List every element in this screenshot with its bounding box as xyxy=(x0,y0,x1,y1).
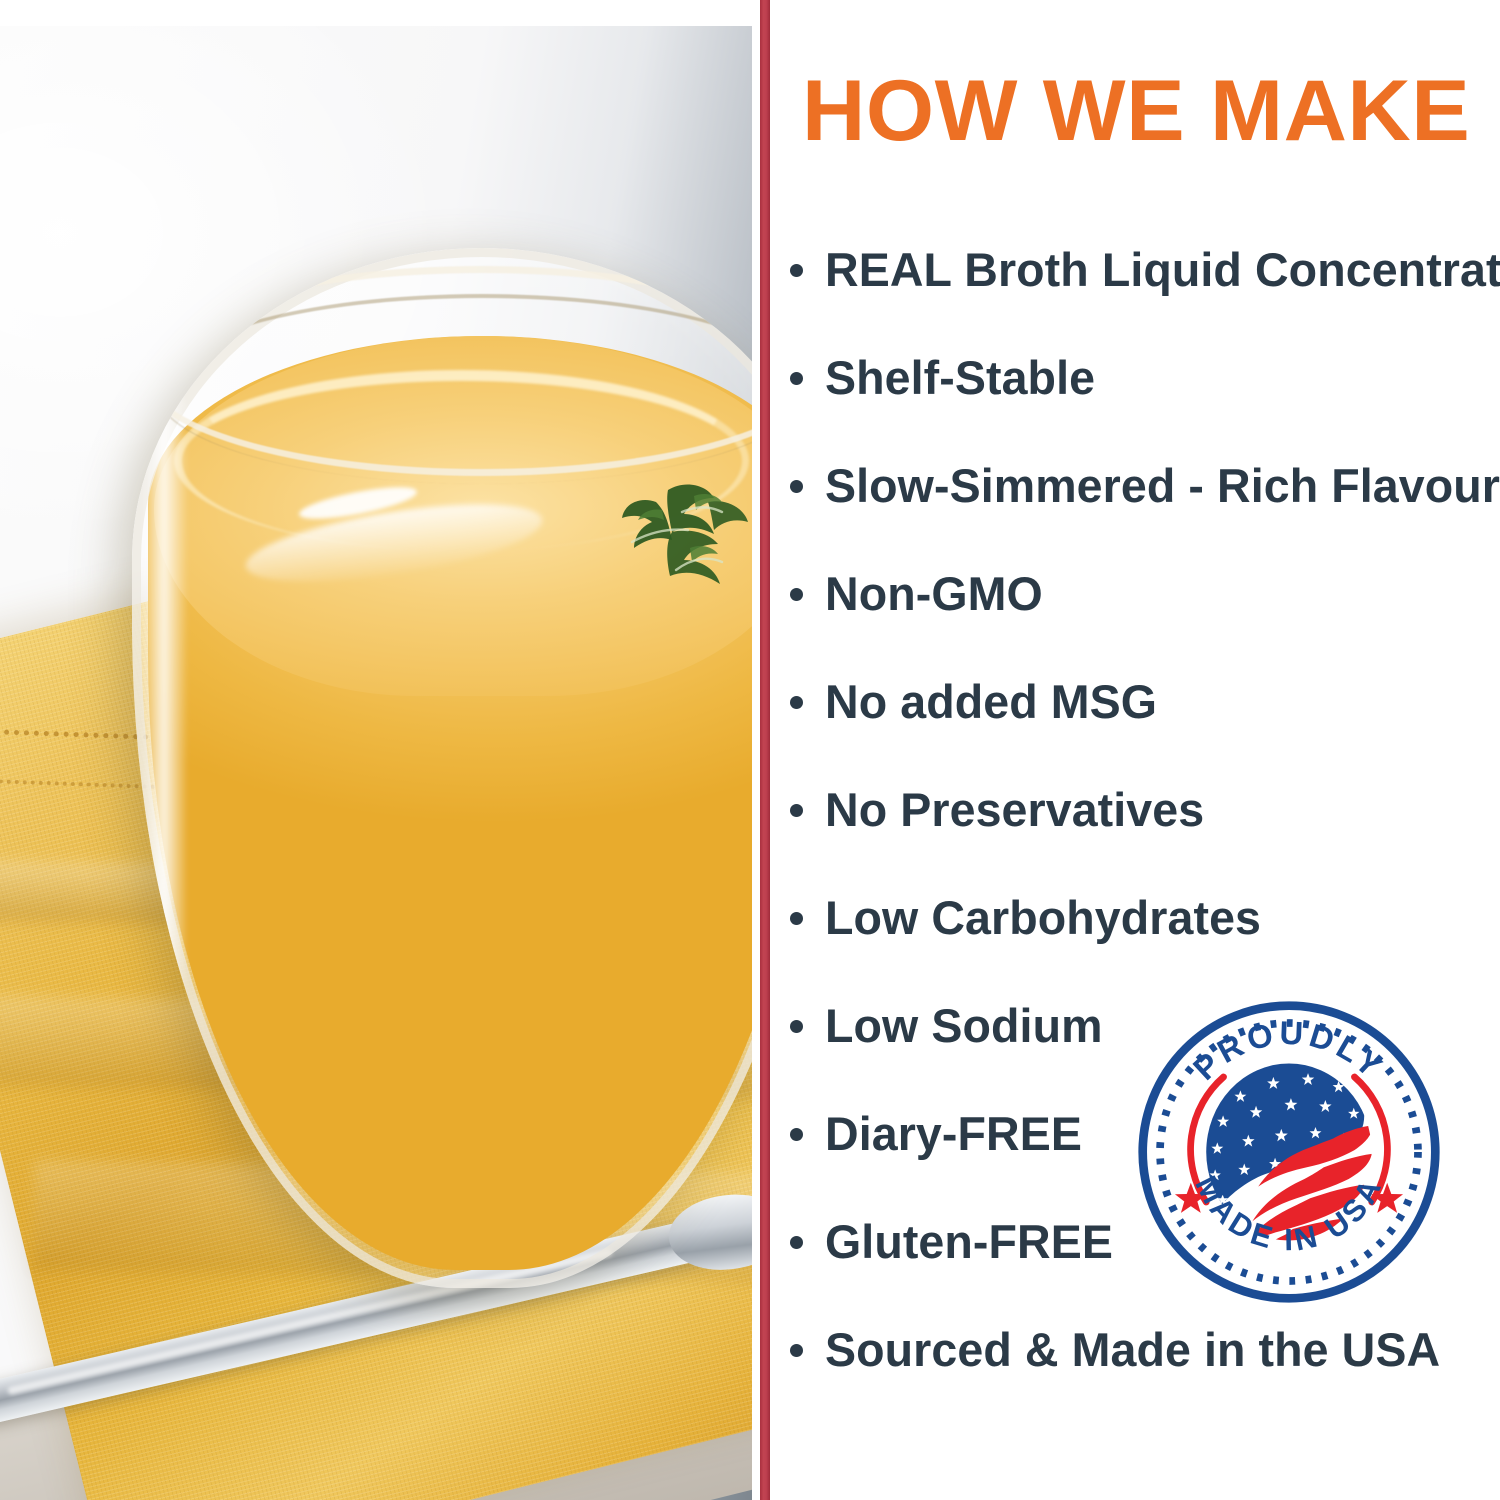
list-item-label: Gluten-FREE xyxy=(825,1218,1113,1265)
bullet-dot-icon xyxy=(790,264,803,277)
list-item: No added MSG xyxy=(790,678,1490,786)
list-item: No Preservatives xyxy=(790,786,1490,894)
list-item: Low Carbohydrates xyxy=(790,894,1490,1002)
list-item: Slow-Simmered - Rich Flavour xyxy=(790,462,1490,570)
list-item-label: Diary-FREE xyxy=(825,1110,1082,1157)
bullet-dot-icon xyxy=(790,912,803,925)
bullet-dot-icon xyxy=(790,696,803,709)
list-item-label: REAL Broth Liquid Concentrate xyxy=(825,246,1500,293)
list-item-label: Low Sodium xyxy=(825,1002,1103,1049)
product-feature-image: HOW WE MAKE IT REAL Broth Liquid Concent… xyxy=(0,0,1500,1500)
list-item-label: Slow-Simmered - Rich Flavour xyxy=(825,462,1500,509)
vertical-divider xyxy=(760,0,770,1500)
page-title: HOW WE MAKE IT xyxy=(802,68,1500,154)
bullet-dot-icon xyxy=(790,480,803,493)
parsley-garnish-icon xyxy=(598,458,752,608)
bullet-dot-icon xyxy=(790,372,803,385)
made-in-usa-badge-icon: PROUDLY MADE IN USA xyxy=(1135,998,1443,1306)
list-item-label: No Preservatives xyxy=(825,786,1204,833)
list-item-label: Sourced & Made in the USA xyxy=(825,1326,1440,1373)
list-item-label: Low Carbohydrates xyxy=(825,894,1261,941)
list-item-label: No added MSG xyxy=(825,678,1157,725)
bullet-dot-icon xyxy=(790,1236,803,1249)
bullet-dot-icon xyxy=(790,1344,803,1357)
bullet-dot-icon xyxy=(790,588,803,601)
list-item: Sourced & Made in the USA xyxy=(790,1326,1490,1434)
list-item: Non-GMO xyxy=(790,570,1490,678)
feature-panel: HOW WE MAKE IT REAL Broth Liquid Concent… xyxy=(770,0,1500,1500)
bullet-dot-icon xyxy=(790,804,803,817)
bullet-dot-icon xyxy=(790,1128,803,1141)
list-item: Shelf-Stable xyxy=(790,354,1490,462)
list-item-label: Shelf-Stable xyxy=(825,354,1095,401)
product-photo xyxy=(0,0,752,1500)
list-item: REAL Broth Liquid Concentrate xyxy=(790,246,1490,354)
photo-scene xyxy=(0,26,752,1500)
glass-highlight xyxy=(140,388,188,1148)
bullet-dot-icon xyxy=(790,1020,803,1033)
list-item-label: Non-GMO xyxy=(825,570,1043,617)
